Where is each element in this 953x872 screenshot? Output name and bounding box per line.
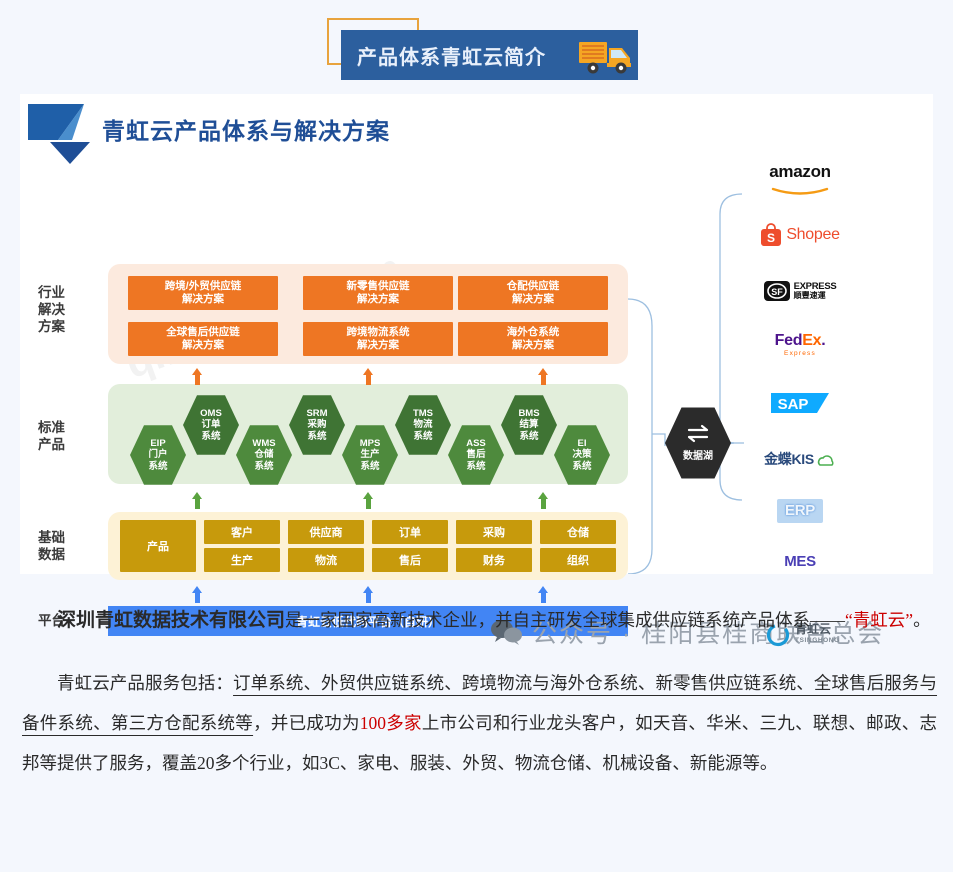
paragraph-1-end: 。 — [913, 610, 931, 630]
partner-logo-fedex: FedEx. Express — [740, 330, 860, 364]
exchange-arrows-icon — [685, 424, 711, 444]
product-hex-line2: 决策 — [572, 449, 591, 461]
data-cell-order[interactable]: 订单 — [372, 520, 448, 544]
product-hex-code: OMS — [200, 408, 222, 420]
data-cell-aftersales[interactable]: 售后 — [372, 548, 448, 572]
arrow-up-orange-3 — [538, 368, 549, 385]
client-count-highlight: 100多家 — [360, 713, 422, 733]
solution-box-line2: 解决方案 — [357, 293, 399, 306]
article-body: 深圳青虹数据技术有限公司是一家国家高新技术企业，并自主研发全球集成供应链系统产品… — [22, 600, 937, 783]
product-hex-line2: 采购 — [307, 419, 326, 431]
data-cell-supplier[interactable]: 供应商 — [288, 520, 364, 544]
partner-logo-mes: MES — [740, 544, 860, 578]
partner-logo-erp-text: ERP — [785, 502, 815, 519]
product-hex-code: TMS — [413, 408, 433, 420]
product-hex-line3: 系统 — [254, 461, 273, 473]
partner-logo-amazon-text: amazon — [769, 162, 831, 182]
solution-box-line2: 解决方案 — [357, 339, 399, 352]
partner-logo-amazon: amazon — [740, 164, 860, 198]
product-hex-code: ASS — [466, 438, 486, 450]
product-hex-code: SRM — [306, 408, 327, 420]
svg-text:S: S — [767, 231, 775, 245]
data-cell-product-featured[interactable]: 产品 — [120, 520, 196, 572]
partner-logo-sf-express: SF EXPRESS 順豐速運 — [740, 274, 860, 308]
paragraph-1-rest: 是一家国家高新技术企业，并自主研发全球集成供应链系统产品体系—— — [285, 610, 845, 630]
solution-box-line1: 跨境/外贸供应链 — [165, 280, 241, 293]
partner-logo-shopee: S Shopee — [740, 218, 860, 252]
row-label-basic-line2: 数据 — [38, 546, 98, 563]
sf-express-circle-icon: SF — [764, 281, 790, 301]
row-label-industry-line2: 解决 — [38, 301, 98, 318]
data-cell-logistics[interactable]: 物流 — [288, 548, 364, 572]
solution-box-cross-border[interactable]: 跨境/外贸供应链 解决方案 — [128, 276, 278, 310]
solution-box-overseas-warehouse[interactable]: 海外仓系统 解决方案 — [458, 322, 608, 356]
solution-box-line2: 解决方案 — [182, 339, 224, 352]
solution-box-cross-border-logistics[interactable]: 跨境物流系统 解决方案 — [303, 322, 453, 356]
diagram-brand-mark-icon — [28, 104, 100, 166]
product-hex-code: MPS — [360, 438, 381, 450]
data-lake-label: 数据湖 — [683, 447, 713, 462]
solution-box-line1: 仓配供应链 — [507, 280, 560, 293]
header-banner: 产品体系青虹云简介 — [0, 0, 953, 88]
product-hex-code: EI — [578, 438, 587, 450]
row-label-industry-line3: 方案 — [38, 318, 98, 335]
page-root: 产品体系青虹云简介 青虹云产品体系与解决方案 — [0, 0, 953, 872]
arrow-up-orange-1 — [192, 368, 203, 385]
product-hex-line3: 系统 — [519, 431, 538, 443]
data-lake-node[interactable]: 数据湖 — [665, 406, 731, 480]
row-label-industry-solution: 行业 解决 方案 — [38, 284, 98, 335]
solution-box-line2: 解决方案 — [512, 339, 554, 352]
solution-box-line1: 跨境物流系统 — [347, 326, 410, 339]
product-hex-line2: 订单 — [201, 419, 220, 431]
product-hex-line2: 仓储 — [254, 449, 273, 461]
product-brand-quote: “青虹云” — [845, 610, 913, 630]
paragraph-services: 青虹云产品服务包括：订单系统、外贸供应链系统、跨境物流与海外仓系统、新零售供应链… — [22, 663, 937, 783]
product-hex-line3: 系统 — [360, 461, 379, 473]
arrow-up-green-3 — [538, 492, 549, 509]
sap-logo-icon: SAP — [771, 391, 829, 415]
partner-logo-shopee-text: Shopee — [786, 226, 839, 244]
partner-logo-erp: ERP — [740, 494, 860, 528]
solution-box-line1: 全球售后供应链 — [166, 326, 240, 339]
product-hex-line3: 系统 — [572, 461, 591, 473]
solution-box-line2: 解决方案 — [512, 293, 554, 306]
data-cell-organization[interactable]: 组织 — [540, 548, 616, 572]
services-lead: 青虹云产品服务包括： — [57, 673, 233, 693]
product-hex-code: BMS — [518, 408, 539, 420]
diagram-inner: 青虹云产品体系与解决方案 qinghong.com 行业 解决 方案 标准 产品… — [20, 94, 933, 574]
banner-title: 产品体系青虹云简介 — [357, 41, 546, 70]
solution-box-line1: 海外仓系统 — [507, 326, 560, 339]
services-mid: ，并已成功为 — [253, 713, 360, 733]
data-cell-production[interactable]: 生产 — [204, 548, 280, 572]
partner-logo-fedex-text: FedEx. — [775, 334, 826, 347]
product-hex-line2: 结算 — [519, 419, 538, 431]
row-label-industry-line1: 行业 — [38, 284, 98, 301]
data-cell-finance[interactable]: 财务 — [456, 548, 532, 572]
arrow-up-orange-2 — [363, 368, 374, 385]
delivery-truck-icon — [578, 36, 634, 76]
amazon-swoosh-icon — [770, 187, 830, 195]
shopee-bag-icon: S — [760, 223, 782, 247]
solution-box-line2: 解决方案 — [182, 293, 224, 306]
data-cell-warehouse[interactable]: 仓储 — [540, 520, 616, 544]
arrow-up-green-1 — [192, 492, 203, 509]
product-hex-line3: 系统 — [307, 431, 326, 443]
product-hex-line2: 售后 — [466, 449, 485, 461]
product-hex-line2: 门户 — [148, 449, 167, 461]
product-hex-line3: 系统 — [148, 461, 167, 473]
solution-box-line1: 新零售供应链 — [347, 280, 410, 293]
diagram-title: 青虹云产品体系与解决方案 — [102, 112, 390, 146]
row-label-standard-line1: 标准 — [38, 419, 98, 436]
partner-logo-kingdee-text: 金蝶KIS — [764, 449, 814, 469]
partner-logo-mes-text: MES — [784, 553, 816, 570]
arrow-up-green-2 — [363, 492, 374, 509]
product-hex-code: WMS — [252, 438, 275, 450]
row-label-basic-line1: 基础 — [38, 529, 98, 546]
svg-text:SF: SF — [771, 287, 783, 297]
solution-box-global-aftersales[interactable]: 全球售后供应链 解决方案 — [128, 322, 278, 356]
partner-logo-sf-text: EXPRESS — [794, 282, 837, 291]
product-hex-line3: 系统 — [413, 431, 432, 443]
solution-box-new-retail[interactable]: 新零售供应链 解决方案 — [303, 276, 453, 310]
row-label-basic-data: 基础 数据 — [38, 529, 98, 563]
paragraph-company-intro: 深圳青虹数据技术有限公司是一家国家高新技术企业，并自主研发全球集成供应链系统产品… — [22, 600, 937, 641]
partner-logo-kingdee-kis: 金蝶KIS — [740, 442, 860, 476]
partner-logo-sf-sub: 順豐速運 — [794, 291, 837, 300]
solution-box-warehouse-dist[interactable]: 仓配供应链 解决方案 — [458, 276, 608, 310]
data-cell-customer[interactable]: 客户 — [204, 520, 280, 544]
product-hex-line3: 系统 — [466, 461, 485, 473]
product-hex-line2: 物流 — [413, 419, 432, 431]
company-name: 深圳青虹数据技术有限公司 — [57, 610, 285, 631]
product-hex-line3: 系统 — [201, 431, 220, 443]
product-hex-code: EIP — [150, 438, 165, 450]
product-system-diagram: 青虹云产品体系与解决方案 qinghong.com 行业 解决 方案 标准 产品… — [20, 94, 933, 574]
row-label-standard-line2: 产品 — [38, 436, 98, 453]
product-hex-line2: 生产 — [360, 449, 379, 461]
sap-logo-text: SAP — [778, 396, 809, 413]
row-label-standard-product: 标准 产品 — [38, 419, 98, 453]
kingdee-cloud-icon — [816, 455, 836, 469]
partner-logo-sap: SAP — [740, 386, 860, 420]
data-cell-purchase[interactable]: 采购 — [456, 520, 532, 544]
